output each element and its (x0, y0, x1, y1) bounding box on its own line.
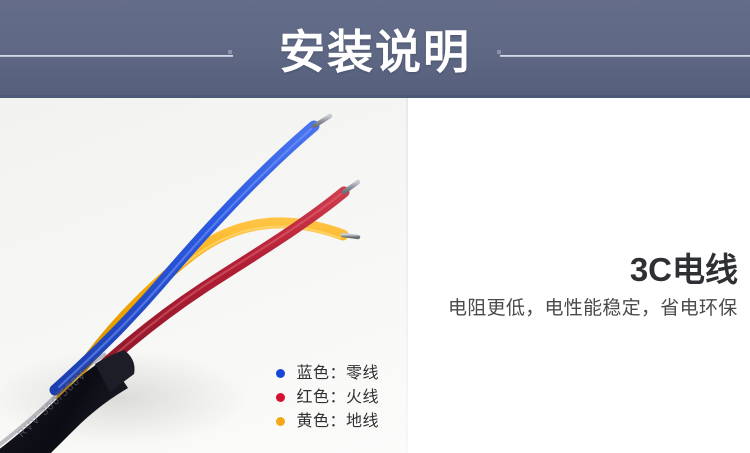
blue-wire-copper-tip (314, 116, 330, 126)
yellow-wire-copper-tip (343, 235, 358, 237)
legend-item-yellow: 黄色：地线 (276, 410, 406, 434)
legend-label-red: 红色：火线 (296, 386, 379, 410)
legend-item-blue: 蓝色：零线 (276, 362, 406, 386)
legend-label-blue: 蓝色：零线 (296, 362, 379, 386)
product-feature-description: 电阻更低，电性能稳定，省电环保 (448, 296, 740, 321)
legend-label-yellow: 黄色：地线 (296, 410, 379, 434)
legend-dot-yellow-icon (276, 417, 285, 426)
page-title: 安装说明 (0, 23, 750, 81)
legend-dot-red-icon (276, 393, 285, 402)
legend-dot-blue-icon (276, 369, 285, 378)
legend-item-red: 红色：火线 (276, 386, 406, 410)
product-feature-title: 3C电线 (448, 250, 750, 290)
page-header-banner: 安装说明 (0, 0, 750, 98)
photo-right-edge (406, 98, 408, 453)
wire-color-legend: 蓝色：零线 红色：火线 黄色：地线 (276, 362, 406, 434)
installation-instructions-page: 安装说明 (0, 0, 750, 453)
